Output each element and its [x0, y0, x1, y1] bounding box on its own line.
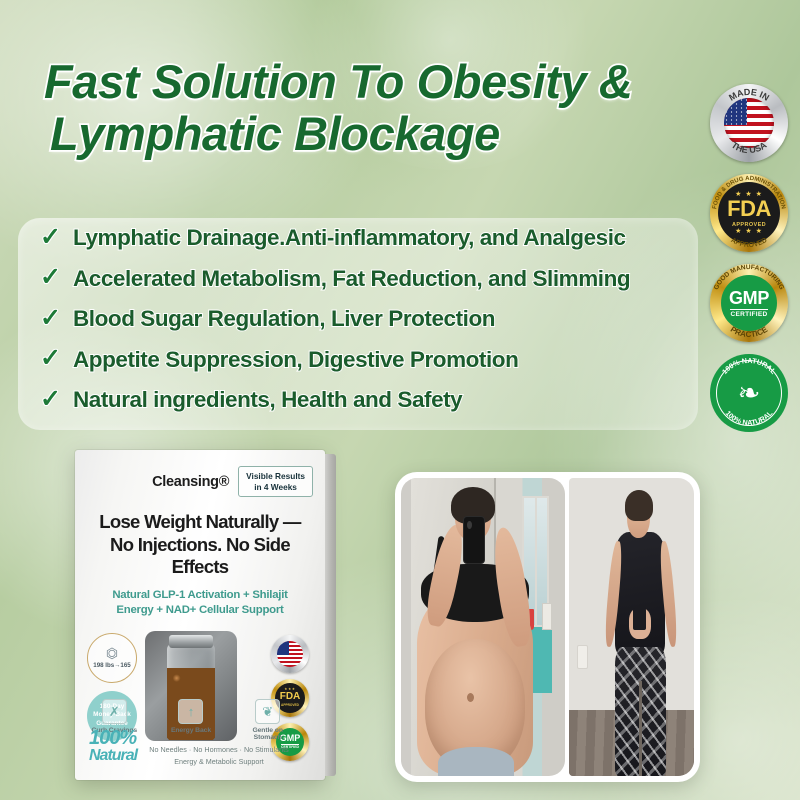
brand-name: Cleansing®: [152, 474, 229, 490]
flag-canton: [277, 641, 289, 655]
flag-canton: [724, 98, 747, 125]
navel: [467, 693, 474, 702]
weight-loss-badge: ⏣ 198 lbs→165: [87, 633, 137, 683]
page-title: Fast Solution To Obesity & Lymphatic Blo…: [44, 56, 724, 159]
package-face: Cleansing® Visible Results in 4 Weeks Lo…: [85, 460, 315, 770]
natural-stamp-line-1: 100%: [89, 728, 137, 748]
underwear: [438, 747, 514, 776]
crossed-utensils-icon: ✗: [102, 699, 127, 724]
package-brand-row: Cleansing® Visible Results in 4 Weeks: [85, 466, 315, 497]
fda-label: FDA: [727, 198, 771, 220]
benefits-panel: ✓ Lymphatic Drainage.Anti-inflammatory, …: [18, 218, 698, 430]
leg-gap: [639, 681, 642, 776]
hair: [625, 490, 653, 521]
gmp-certified-badge: GMP CERTIFIED GOOD MANUFACTURING PRACTIC…: [710, 264, 788, 342]
after-photo: [569, 478, 694, 776]
gmp-sublabel: CERTIFIED: [730, 309, 767, 318]
benefit-label: Appetite Suppression, Digestive Promotio…: [73, 347, 518, 373]
gmp-seal-core: GMP CERTIFIED: [721, 275, 777, 331]
visible-results-chip: Visible Results in 4 Weeks: [238, 466, 313, 497]
chip-line-2: in 4 Weeks: [254, 482, 297, 492]
headline-line-1: Fast Solution To Obesity &: [44, 55, 632, 108]
benefit-item: ✓ Lymphatic Drainage.Anti-inflammatory, …: [18, 218, 698, 259]
check-icon: ✓: [40, 346, 66, 371]
shield-stomach-icon: ❦: [255, 699, 280, 724]
benefit-item: ✓ Blood Sugar Regulation, Liver Protecti…: [18, 299, 698, 340]
fda-stars-bottom: ★ ★ ★: [735, 228, 763, 235]
person-before: [409, 490, 540, 776]
check-icon: ✓: [40, 306, 66, 331]
benefit-label: Natural ingredients, Health and Safety: [73, 387, 462, 413]
benefit-label: Blood Sugar Regulation, Liver Protection: [73, 306, 495, 332]
before-after-photo-pair: [395, 472, 700, 782]
usa-flag-icon: [724, 98, 774, 148]
product-package: Cleansing® Visible Results in 4 Weeks Lo…: [75, 450, 325, 780]
package-headline-line-1: Lose Weight Naturally —: [99, 511, 300, 532]
usa-flag-icon: [277, 641, 303, 667]
before-photo: [401, 478, 565, 776]
benefit-item: ✓ Accelerated Metabolism, Fat Reduction,…: [18, 259, 698, 300]
100-natural-badge: ❧ 100% NATURAL 100% NATURAL: [710, 354, 788, 432]
fda-seal-core: ★ ★ ★ FDA APPROVED ★ ★ ★: [718, 182, 780, 244]
package-headline-line-2: No Injections. No Side Effects: [110, 534, 290, 578]
advertisement-root: Fast Solution To Obesity & Lymphatic Blo…: [0, 0, 800, 800]
benefit-item: ✓ Appetite Suppression, Digestive Promot…: [18, 340, 698, 381]
gmp-label: GMP: [729, 289, 769, 307]
body-silhouette-icon: ⏣: [106, 646, 118, 660]
made-in-usa-badge: MADE IN THE USA: [710, 84, 788, 162]
package-headline: Lose Weight Naturally — No Injections. N…: [85, 511, 315, 579]
feature-label: Energy Back: [162, 727, 221, 734]
natural-stamp: 100% Natural: [89, 728, 137, 764]
benefit-item: ✓ Natural ingredients, Health and Safety: [18, 380, 698, 421]
check-icon: ✓: [40, 387, 66, 412]
bottle-cap: [169, 635, 213, 648]
benefit-label: Lymphatic Drainage.Anti-inflammatory, an…: [73, 225, 626, 251]
check-icon: ✓: [40, 225, 66, 250]
light-switch: [542, 603, 552, 630]
package-subheadline-line-2: Energy + NAD+ Cellular Support: [116, 604, 283, 616]
seal-inner-ring: [716, 360, 782, 426]
check-icon: ✓: [40, 265, 66, 290]
feature-label: Gentle on Stomach: [238, 727, 297, 741]
phone-icon: [463, 516, 485, 565]
feature-item: ↑ Energy Back: [162, 699, 221, 741]
fda-approved-badge: ★ ★ ★ FDA APPROVED ★ ★ ★ FOOD & DRUG ADM…: [710, 174, 788, 252]
chip-line-1: Visible Results: [246, 471, 305, 481]
package-subheadline: Natural GLP-1 Activation + Shilajit Ener…: [85, 588, 315, 618]
benefit-label: Accelerated Metabolism, Fat Reduction, a…: [73, 266, 630, 292]
energy-droplet-icon: ↑: [178, 699, 203, 724]
natural-stamp-line-2: Natural: [89, 748, 137, 764]
wall-outlet: [577, 645, 588, 669]
package-spine: [325, 454, 336, 776]
headline-line-2: Lymphatic Blockage: [44, 108, 724, 160]
trust-badge-column: MADE IN THE USA ★ ★ ★ FDA APPROVED ★ ★ ★: [706, 84, 792, 444]
package-subheadline-line-1: Natural GLP-1 Activation + Shilajit: [112, 589, 287, 601]
mini-usa-seal: [271, 635, 309, 673]
feature-item: ❦ Gentle on Stomach: [238, 699, 297, 741]
weight-loss-text: 198 lbs→165: [93, 662, 131, 669]
phone-icon: [633, 608, 645, 630]
person-after: [602, 496, 679, 776]
natural-leaf-seal-icon: ❧: [710, 354, 788, 432]
